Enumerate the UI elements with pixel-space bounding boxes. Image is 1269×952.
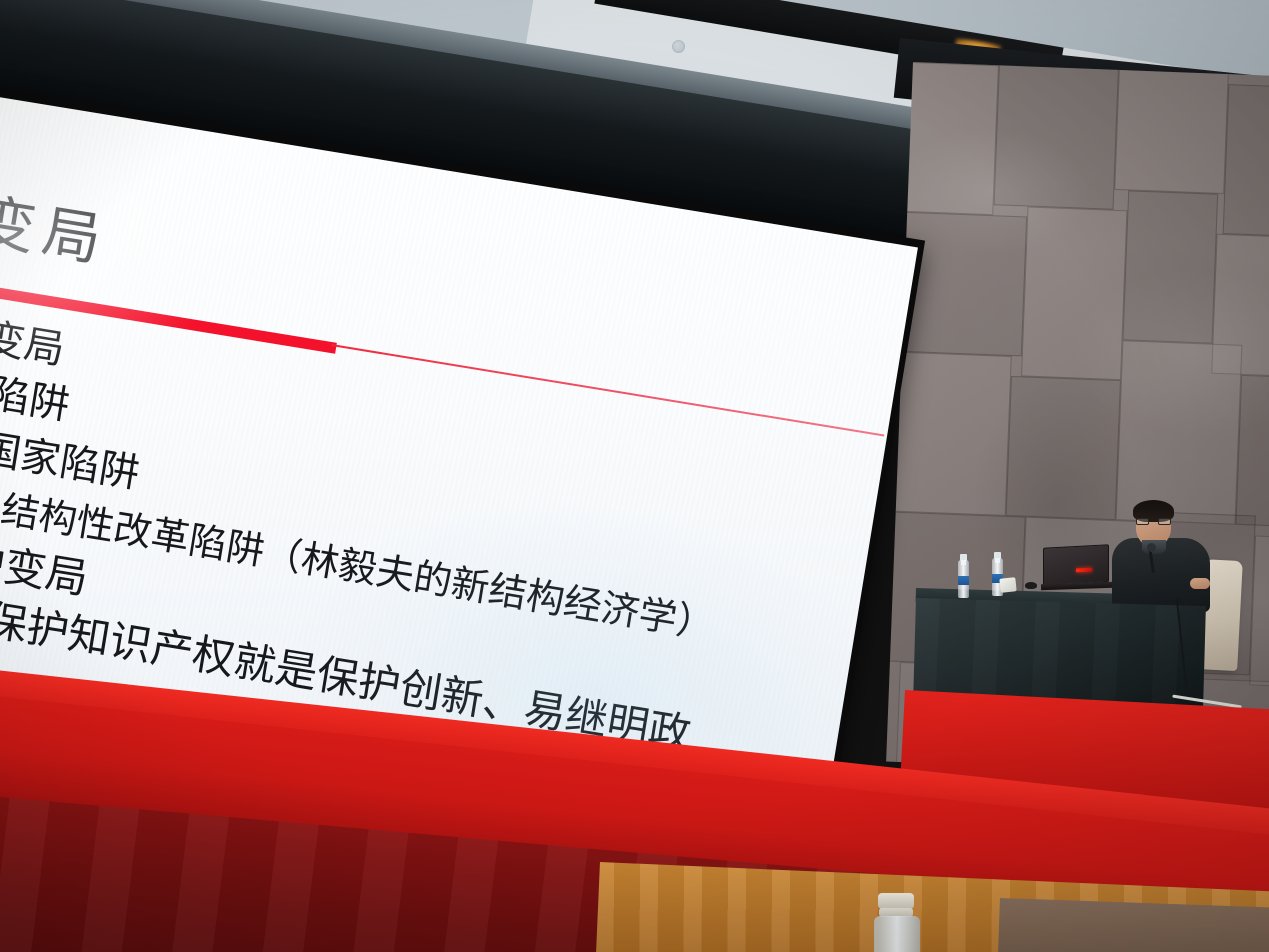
bottle-label: [958, 576, 969, 585]
floor-step: [997, 898, 1269, 952]
glasses-icon: [1136, 518, 1171, 525]
tissue-pack: [999, 577, 1016, 593]
presentation-photo-scene: 、变局 国际创新竞争变局 修昔底斯陷阱 中等收入国家陷阱 结构性改革陷阱（林毅夫…: [0, 0, 1269, 952]
foreground-water-bottle: [870, 893, 924, 952]
microphone-icon: [1147, 543, 1156, 552]
speaker: [1106, 500, 1216, 610]
laptop-brand-logo-icon: [1076, 568, 1092, 573]
water-bottle-left: [958, 560, 969, 598]
bottle-body: [874, 916, 920, 952]
laptop-lid: [1043, 544, 1109, 585]
mouse-icon: [1025, 582, 1037, 589]
bottle-cap-icon: [878, 893, 914, 909]
bottle-neck: [995, 558, 1000, 563]
speaker-hand: [1190, 578, 1210, 589]
bottle-neck: [961, 560, 966, 565]
ceiling-sprinkler-icon: [672, 40, 685, 53]
slide-title: 、变局: [0, 181, 113, 270]
